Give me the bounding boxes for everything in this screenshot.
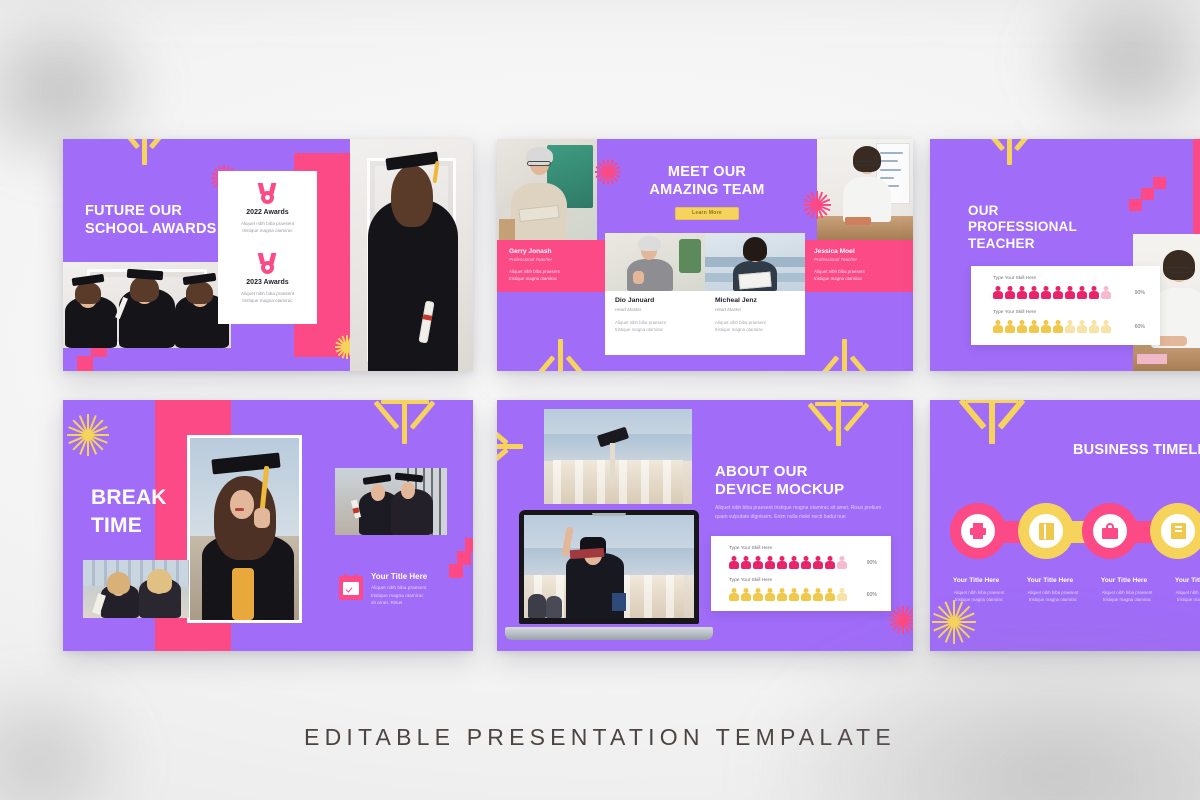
slide-title: BUSINESS TIMELINE <box>1073 442 1200 460</box>
award-heading: 2023 Awards <box>218 279 317 286</box>
member-body: Aliquet nibh biba praesent tristique mag… <box>509 268 560 282</box>
timeline-caption-heading: Your Title Here <box>1162 577 1200 584</box>
timeline-caption-heading: Your Title Here <box>1088 577 1160 584</box>
slide-body-text: Aliquet nibh biba praesent tristique mag… <box>715 504 893 522</box>
member-name: Jessica Moel <box>814 248 855 255</box>
calendar-check-icon <box>339 576 363 600</box>
laptop-mockup <box>519 510 699 640</box>
slide-meet-our-amazing-team[interactable]: MEET OUR AMAZING TEAM Learn More Gerry J… <box>497 139 913 371</box>
slide-business-timeline[interactable]: BUSINESS TIMELINE <box>930 400 1200 651</box>
presentation-mockup-stage: 2022 Awards Aliquet nibh biba praesent t… <box>0 0 1200 800</box>
yellow-burst-arrow-icon <box>954 400 1028 446</box>
yellow-burst-arrow-icon <box>497 418 527 476</box>
timeline-node-inner <box>1161 514 1195 548</box>
slide-title: MEET OUR AMAZING TEAM <box>617 164 797 199</box>
timeline-caption-body: Aliquet nibh biba praesent tristique mag… <box>1088 589 1166 603</box>
pink-stair-shape <box>1129 177 1171 211</box>
skill-label: Type Your Skill Here <box>729 578 772 583</box>
book-icon <box>1039 523 1054 540</box>
skill-percent: 90% <box>1135 290 1145 296</box>
yellow-sparkle-icon <box>67 414 109 456</box>
skill-percent: 60% <box>867 592 877 598</box>
timeline-caption-body: Aliquet nibh biba praesent tristique mag… <box>940 589 1018 603</box>
member-panel-right[interactable]: Jessica Moel Professional Teacher Alique… <box>802 240 913 292</box>
graduate-cheering-photo <box>524 515 694 618</box>
timeline-caption-body: Aliquet nibh biba praesent tristique mag… <box>1014 589 1092 603</box>
people-bar <box>729 556 847 569</box>
member-name: Dio Januard <box>615 297 654 304</box>
award-body: Aliquet nibh biba praesent tristique mag… <box>224 220 311 234</box>
timeline-caption-body: Aliquet nibh biba praesent tristique mag… <box>1162 589 1200 603</box>
page-caption: EDITABLE PRESENTATION TEMPALATE <box>0 724 1200 751</box>
medal-icon <box>258 183 277 205</box>
member-body: Aliquet nibh biba praesent tristique mag… <box>814 268 865 282</box>
two-graduates-photo <box>83 560 189 618</box>
timeline-caption-heading: Your Title Here <box>1014 577 1086 584</box>
member-name: Gerry Jonash <box>509 248 552 255</box>
board-icon <box>1171 523 1186 539</box>
timeline-chain <box>940 503 1200 559</box>
three-graduates-photo <box>63 262 231 348</box>
timeline-node[interactable] <box>1082 503 1138 559</box>
teacher-with-book-photo <box>497 139 597 240</box>
slide-grid: 2022 Awards Aliquet nibh biba praesent t… <box>63 139 1200 651</box>
slide-break-time[interactable]: BREAK TIME <box>63 400 473 651</box>
timeline-node[interactable] <box>1018 503 1074 559</box>
member-role: Professional Teacher <box>509 257 552 262</box>
member-role: Head Master <box>715 307 741 312</box>
yellow-sparkle-icon <box>932 600 976 644</box>
teacher-at-desk-photo <box>817 139 913 240</box>
timeline-caption-heading: Your Title Here <box>940 577 1012 584</box>
cap-toss-photo <box>544 409 692 504</box>
skill-chart-card[interactable]: Type Your Skill Here 90% <box>971 266 1160 345</box>
people-bar <box>729 588 847 601</box>
slide-future-our-school-awards[interactable]: 2022 Awards Aliquet nibh biba praesent t… <box>63 139 473 371</box>
member-body: Aliquet nibh biba praesent tristique mag… <box>615 319 666 334</box>
slide-title: OUR PROFESSIONAL TEACHER <box>968 203 1077 252</box>
slide-our-professional-teacher[interactable]: OUR PROFESSIONAL TEACHER Type Your Skill… <box>930 139 1200 371</box>
bag-icon <box>1102 523 1118 539</box>
printer-icon <box>970 523 986 539</box>
yellow-burst-arrow-icon <box>111 139 177 167</box>
slide-title: ABOUT OUR DEVICE MOCKUP <box>715 463 844 500</box>
graduate-tassel-photo <box>187 435 302 623</box>
skill-percent: 90% <box>867 560 877 566</box>
laptop-base <box>505 627 714 640</box>
awards-card[interactable]: 2022 Awards Aliquet nibh biba praesent t… <box>218 171 317 324</box>
skill-label: Type Your Skill Here <box>993 310 1036 315</box>
graduate-portrait-photo <box>350 139 473 371</box>
skill-row: 60% <box>729 588 877 601</box>
pink-corner-block <box>1193 139 1200 239</box>
skill-label: Type Your Skill Here <box>729 546 772 551</box>
member-role: Head Master <box>615 307 641 312</box>
yellow-burst-arrow-icon <box>803 400 873 448</box>
learn-more-button[interactable]: Learn More <box>675 207 739 220</box>
backdrop-shadow-bottom-left <box>0 630 190 800</box>
skill-row: 90% <box>729 556 877 569</box>
laptop-camera-notch <box>592 513 626 516</box>
block-heading: Your Title Here <box>371 572 427 581</box>
timeline-node[interactable] <box>950 503 1006 559</box>
member-body: Aliquet nibh biba praesent tristique mag… <box>715 319 766 334</box>
slide-title: FUTURE OUR SCHOOL AWARDS <box>85 203 217 238</box>
yellow-burst-arrow-icon <box>525 335 595 371</box>
timeline-node-inner <box>961 514 995 548</box>
timeline-node[interactable] <box>1150 503 1200 559</box>
slide-title: BREAK TIME <box>91 484 167 541</box>
skill-label: Type Your Skill Here <box>993 276 1036 281</box>
skill-chart-card[interactable]: Type Your Skill Here 90% <box>711 536 891 611</box>
yellow-burst-arrow-icon <box>369 400 439 446</box>
yellow-burst-arrow-icon <box>976 139 1042 167</box>
graduates-hug-photo <box>335 468 447 535</box>
medal-icon <box>258 253 277 275</box>
member-role: Professional Teacher <box>814 257 857 262</box>
member-name: Micheal Jenz <box>715 297 757 304</box>
pink-sparkle-icon <box>889 606 913 634</box>
timeline-node-inner <box>1029 514 1063 548</box>
people-bar <box>993 320 1111 333</box>
block-body: Aliquet nibh biba praesent tristique mag… <box>371 585 426 608</box>
member-photo-micheal <box>705 233 805 291</box>
award-heading: 2022 Awards <box>218 209 317 216</box>
skill-percent: 60% <box>1135 324 1145 330</box>
yellow-burst-arrow-icon <box>809 335 879 371</box>
skill-row: 60% <box>993 320 1145 333</box>
member-photo-dio <box>605 233 705 291</box>
timeline-node-inner <box>1093 514 1127 548</box>
skill-row: 90% <box>993 286 1145 299</box>
award-body: Aliquet nibh biba praesent tristique mag… <box>224 290 311 304</box>
member-panel-left[interactable]: Gerry Jonash Professional Teacher Alique… <box>497 240 608 292</box>
break-time-title-block[interactable]: Your Title Here Aliquet nibh biba praese… <box>339 572 469 626</box>
slide-about-our-device-mockup[interactable]: ABOUT OUR DEVICE MOCKUP Aliquet nibh bib… <box>497 400 913 651</box>
people-bar <box>993 286 1111 299</box>
